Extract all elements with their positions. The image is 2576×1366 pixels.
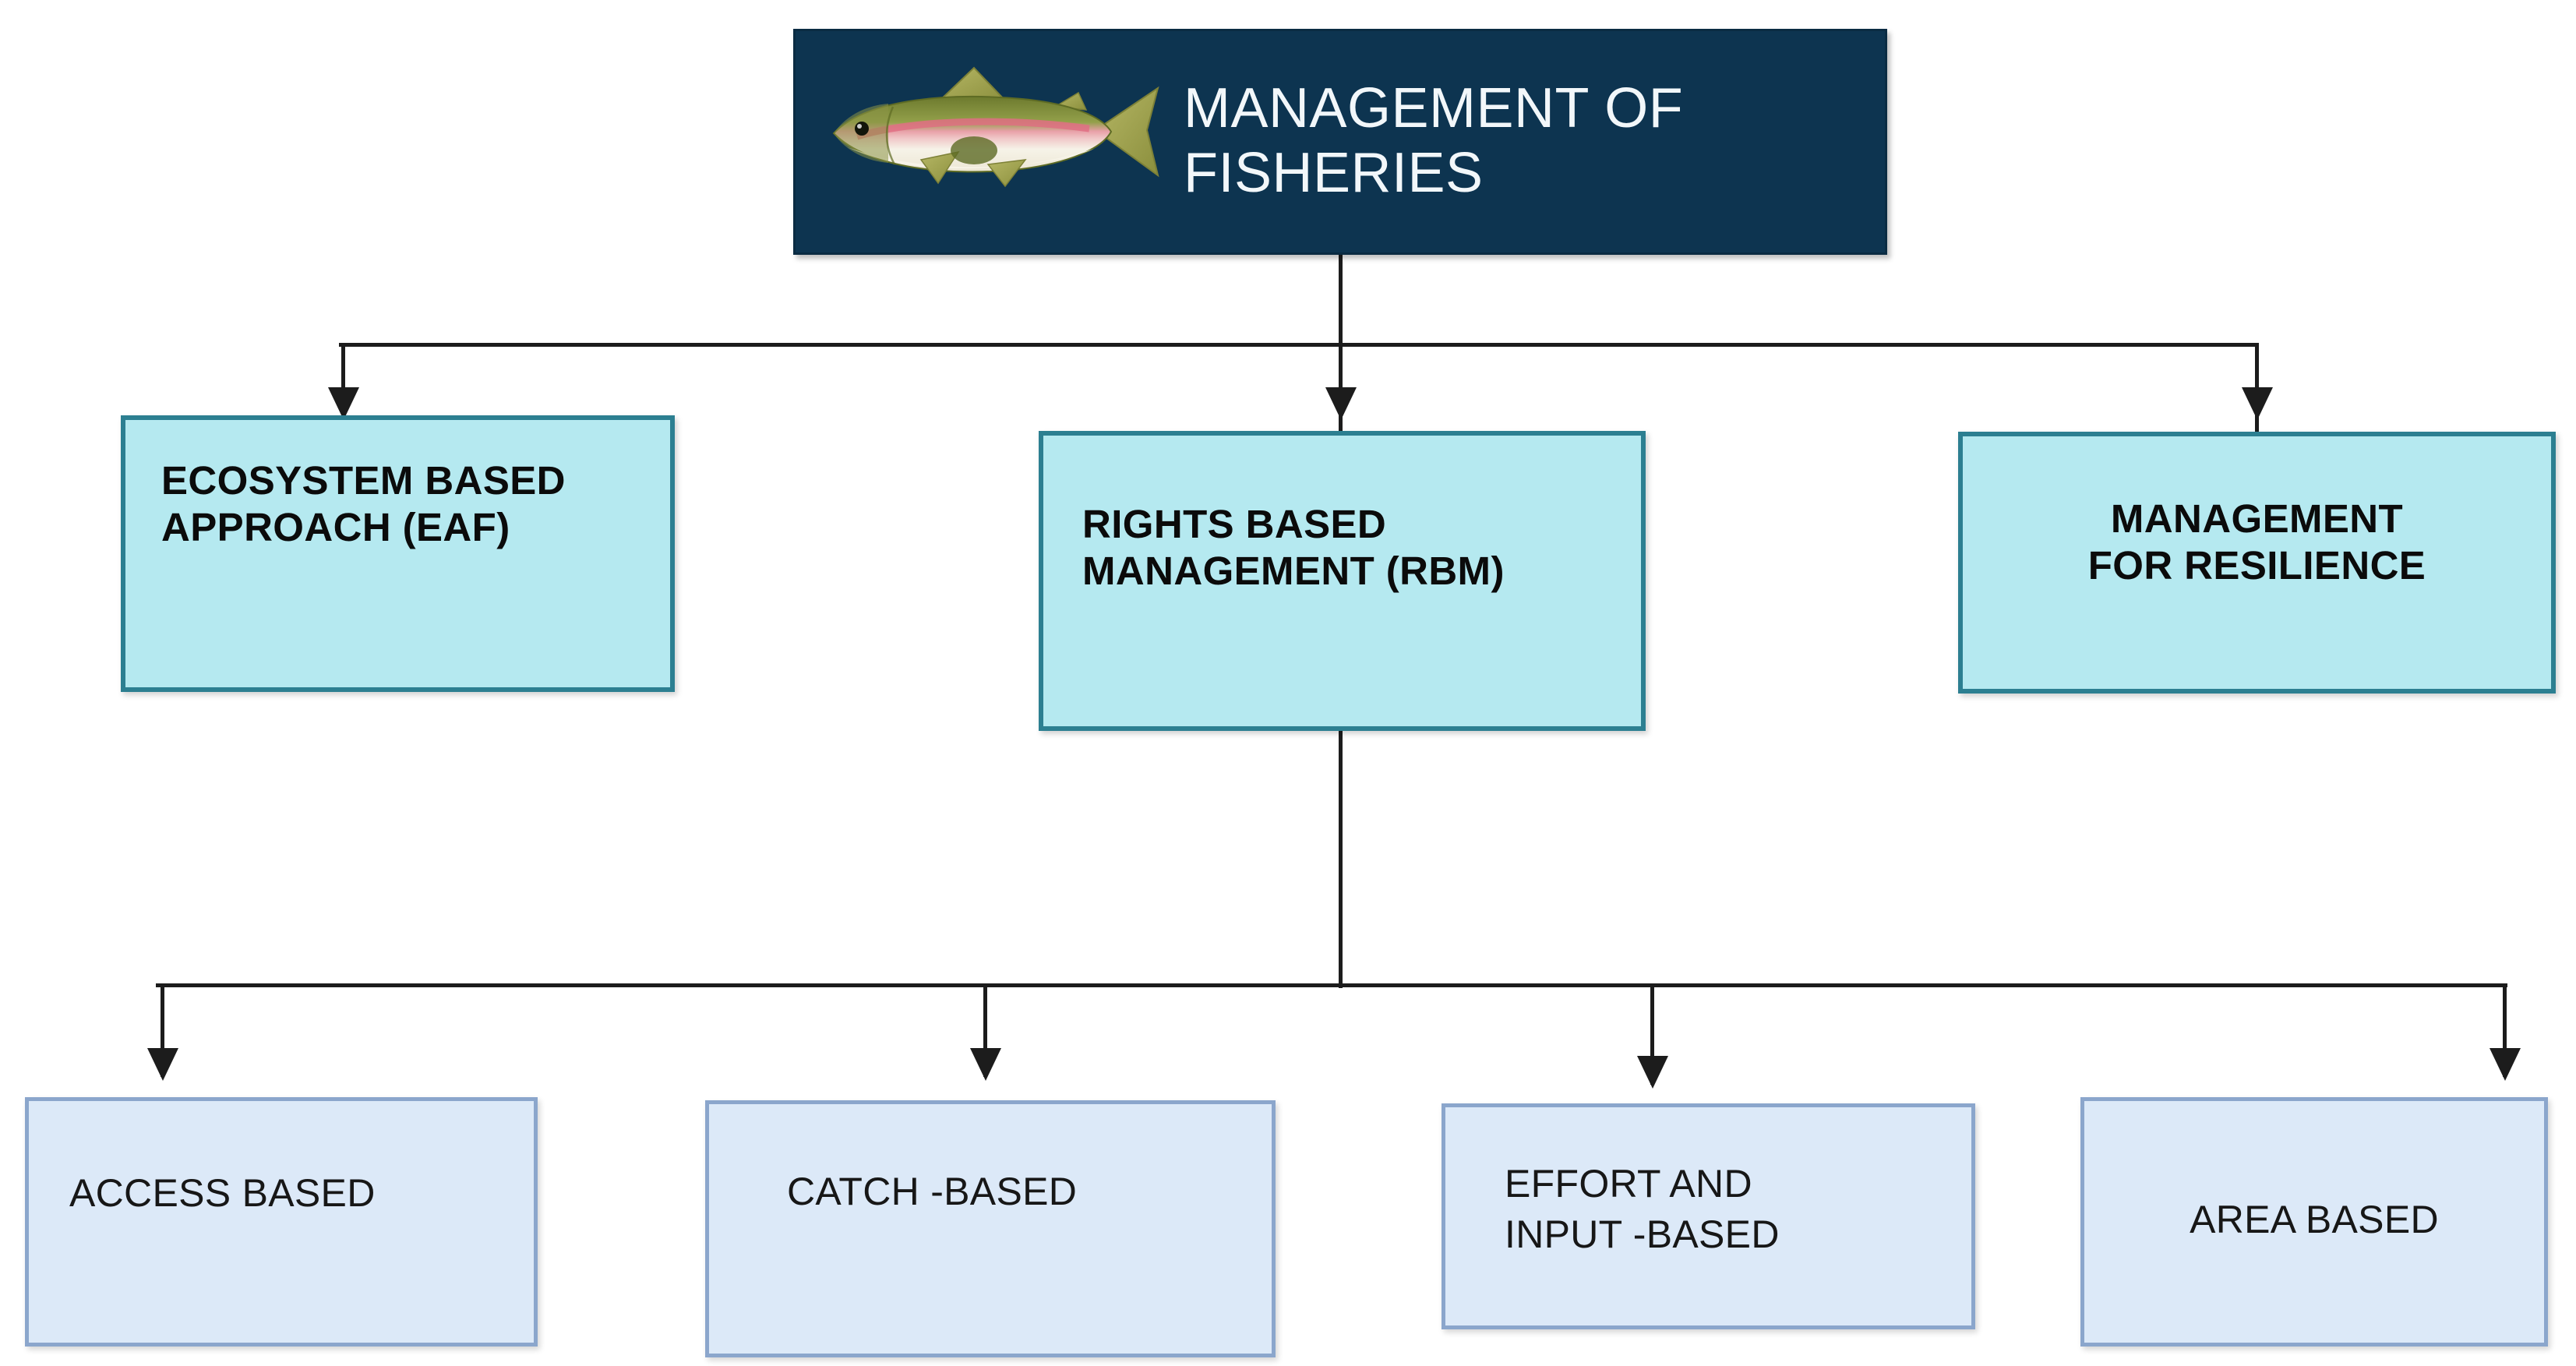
- node-rights-based-management[interactable]: RIGHTS BASED MANAGEMENT (RBM): [1039, 431, 1646, 731]
- node-eaf-label: ECOSYSTEM BASED APPROACH (EAF): [161, 457, 566, 551]
- connector-level2-bus: [339, 343, 2257, 347]
- node-catch-based[interactable]: CATCH -BASED: [705, 1100, 1276, 1357]
- node-resilience-label: MANAGEMENT FOR RESILIENCE: [1963, 496, 2551, 589]
- arrowhead-catch-icon: [970, 1048, 1001, 1081]
- node-rbm-label: RIGHTS BASED MANAGEMENT (RBM): [1082, 501, 1505, 595]
- node-effort-and-input-based[interactable]: EFFORT AND INPUT -BASED: [1442, 1103, 1975, 1329]
- node-title-label: MANAGEMENT OF FISHERIES: [1184, 76, 1683, 206]
- node-effort-label: EFFORT AND INPUT -BASED: [1505, 1159, 1780, 1260]
- arrowhead-effort-icon: [1637, 1056, 1668, 1089]
- arrowhead-area-icon: [2490, 1048, 2521, 1081]
- arrowhead-access-icon: [147, 1048, 178, 1081]
- flowchart-canvas: MANAGEMENT OF FISHERIES ECOSYSTEM BASED …: [0, 0, 2576, 1366]
- node-management-for-resilience[interactable]: MANAGEMENT FOR RESILIENCE: [1958, 432, 2556, 694]
- connector-rbm-stem: [1339, 731, 1343, 988]
- node-management-of-fisheries[interactable]: MANAGEMENT OF FISHERIES: [793, 29, 1887, 255]
- arrowhead-resilience-icon: [2242, 387, 2273, 420]
- node-catch-label: CATCH -BASED: [787, 1167, 1077, 1217]
- node-area-label: AREA BASED: [2084, 1195, 2544, 1245]
- node-area-based[interactable]: AREA BASED: [2080, 1097, 2548, 1347]
- node-access-based[interactable]: ACCESS BASED: [25, 1097, 538, 1347]
- connector-root-stem: [1339, 255, 1343, 345]
- node-ecosystem-based-approach[interactable]: ECOSYSTEM BASED APPROACH (EAF): [121, 415, 675, 692]
- fish-icon: [810, 59, 1176, 199]
- arrowhead-rbm-icon: [1325, 387, 1357, 420]
- node-access-label: ACCESS BASED: [69, 1168, 376, 1219]
- connector-level3-bus: [156, 983, 2507, 987]
